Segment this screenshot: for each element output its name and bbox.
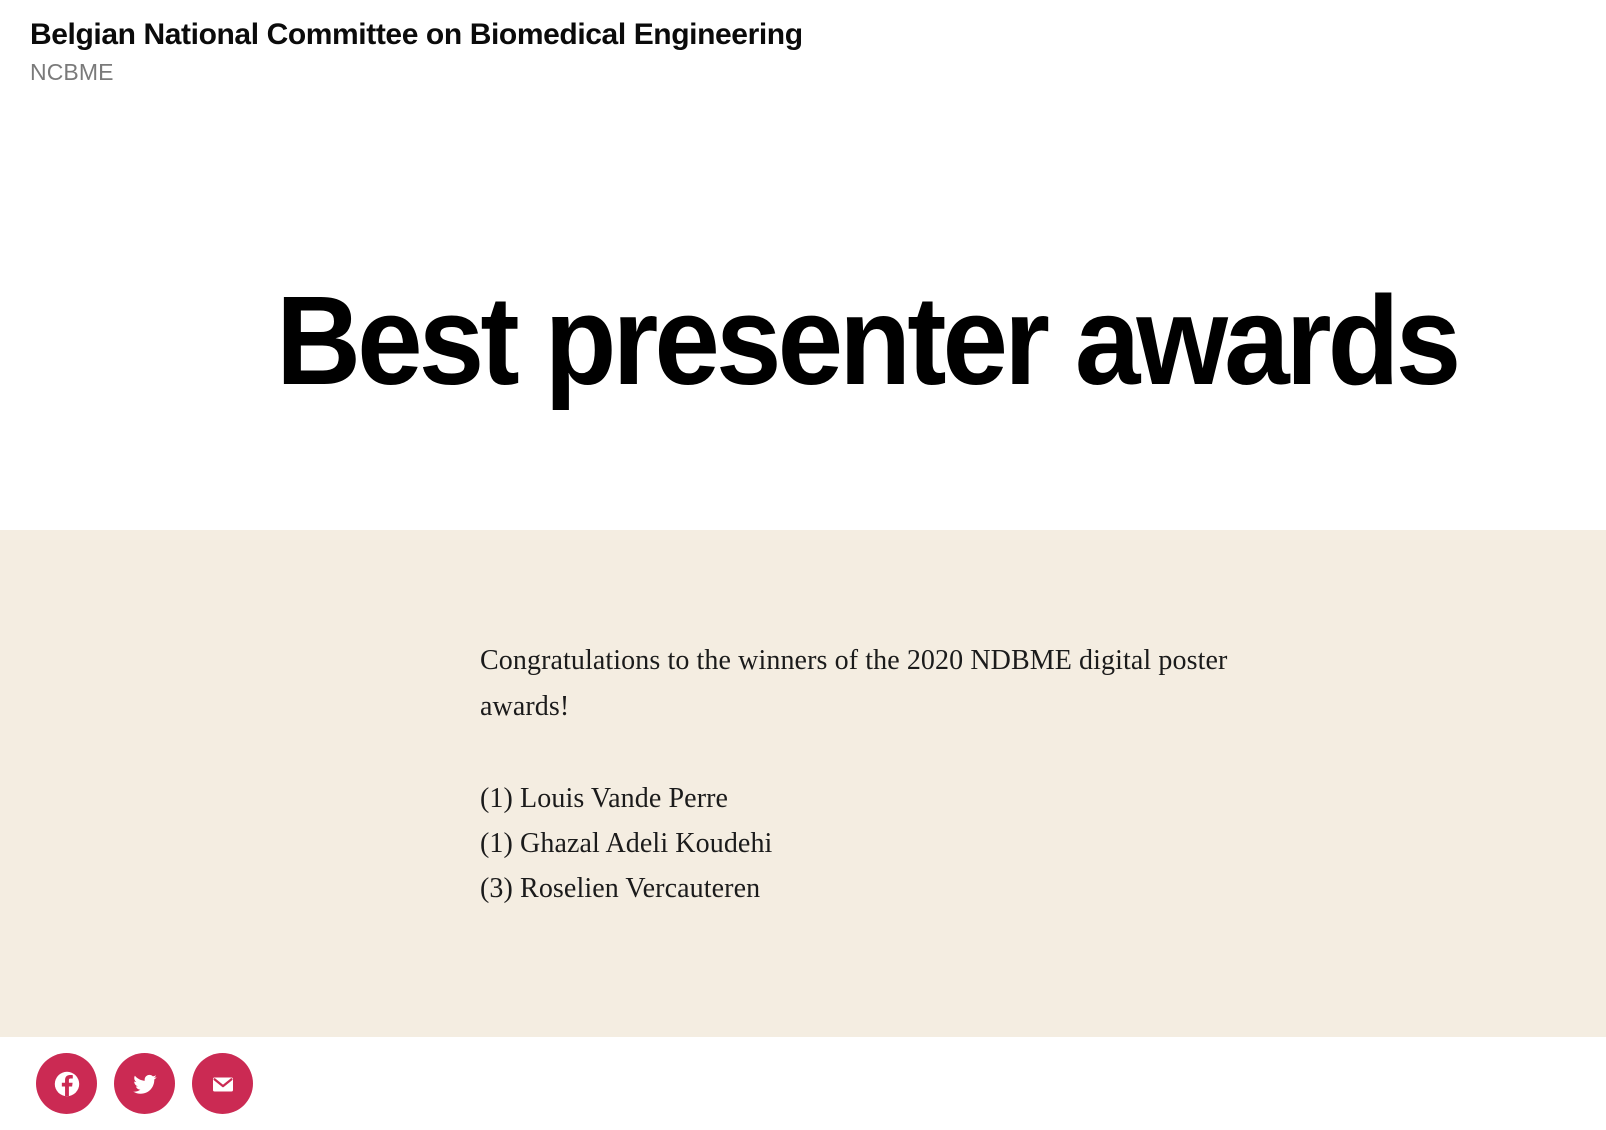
site-title[interactable]: Belgian National Committee on Biomedical… (30, 18, 1606, 52)
winner-list: (1) Louis Vande Perre (1) Ghazal Adeli K… (480, 776, 1290, 911)
twitter-icon (129, 1068, 161, 1100)
list-item: (1) Louis Vande Perre (480, 776, 1290, 821)
envelope-icon (207, 1068, 239, 1100)
page-title: Best presenter awards (276, 278, 1473, 404)
content-body: Congratulations to the winners of the 20… (480, 638, 1290, 911)
site-header: Belgian National Committee on Biomedical… (0, 0, 1606, 118)
intro-paragraph: Congratulations to the winners of the 20… (480, 638, 1290, 730)
list-item: (1) Ghazal Adeli Koudehi (480, 821, 1290, 866)
email-share-button[interactable] (192, 1053, 253, 1114)
list-item: (3) Roselien Vercauteren (480, 866, 1290, 911)
site-subtitle: NCBME (30, 59, 1606, 87)
social-footer (0, 1037, 1606, 1130)
content-section: Congratulations to the winners of the 20… (0, 530, 1606, 1037)
facebook-icon (51, 1068, 83, 1100)
facebook-share-button[interactable] (36, 1053, 97, 1114)
hero-section: Best presenter awards (0, 118, 1606, 530)
twitter-share-button[interactable] (114, 1053, 175, 1114)
